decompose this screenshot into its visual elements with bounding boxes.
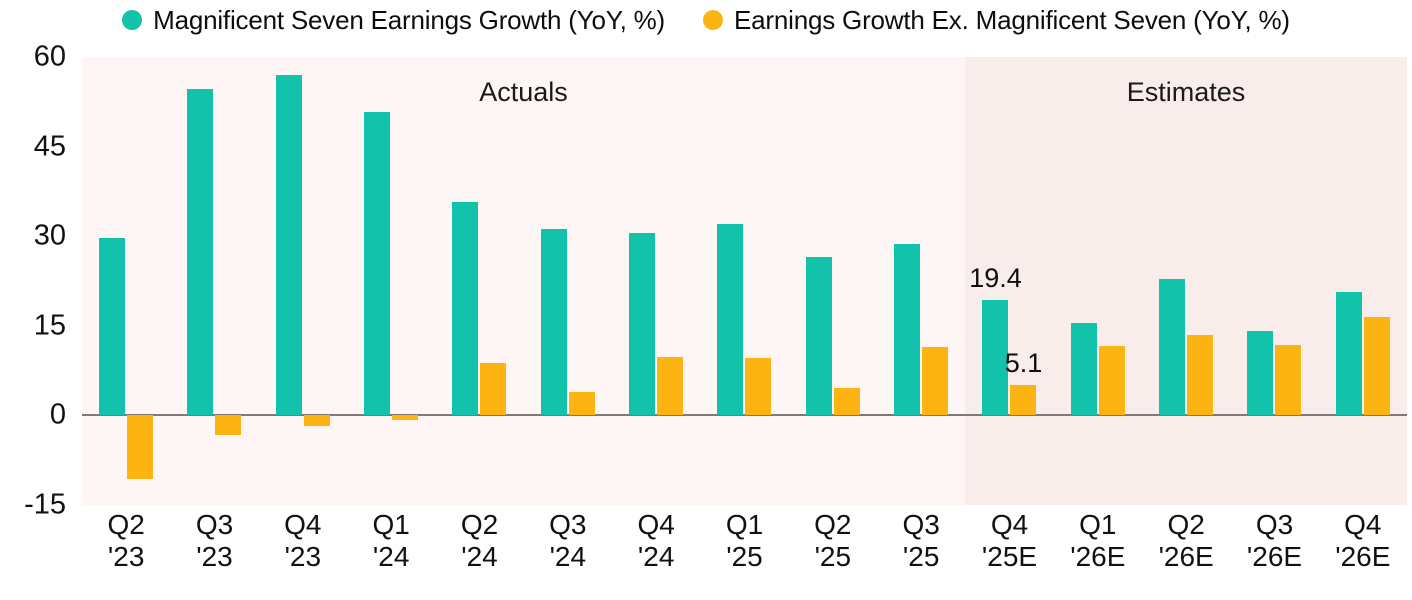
x-axis-tick-label: Q2'25 — [814, 509, 851, 574]
x-axis-tick-label-line: '24 — [372, 541, 409, 573]
x-axis-tick-label: Q3'24 — [549, 509, 586, 574]
bar-mag-seven[interactable] — [452, 202, 478, 415]
bar-mag-seven[interactable] — [717, 224, 743, 415]
x-axis-tick-label-line: Q3 — [902, 509, 939, 541]
x-axis-tick-label-line: Q3 — [196, 509, 233, 541]
x-axis-tick-label-line: '23 — [284, 541, 321, 573]
x-axis-tick-label-line: '25 — [902, 541, 939, 573]
bar-ex-mag-seven[interactable] — [922, 347, 948, 416]
bar-ex-mag-seven[interactable] — [834, 388, 860, 415]
bar-group — [1054, 57, 1142, 505]
legend-label-ex-mag-seven: Earnings Growth Ex. Magnificent Seven (Y… — [734, 5, 1290, 36]
circle-marker-icon — [703, 10, 723, 30]
bar-group — [789, 57, 877, 505]
circle-marker-icon — [122, 10, 142, 30]
x-axis-tick-label-line: '26E — [1247, 541, 1302, 573]
bar-mag-seven[interactable] — [187, 89, 213, 416]
x-axis-tick-label-line: Q4 — [284, 509, 321, 541]
bar-ex-mag-seven[interactable] — [304, 415, 330, 426]
bar-ex-mag-seven[interactable] — [215, 415, 241, 435]
bar-group — [1230, 57, 1318, 505]
x-axis-tick-label-line: Q3 — [1247, 509, 1302, 541]
y-axis-tick-label: 60 — [34, 41, 66, 74]
x-axis-tick-label: Q3'26E — [1247, 509, 1302, 574]
bar-ex-mag-seven[interactable] — [1099, 346, 1125, 415]
bars-layer: 19.45.1 — [82, 57, 1407, 505]
x-axis-tick-label-line: Q4 — [1335, 509, 1390, 541]
bar-group — [435, 57, 523, 505]
y-axis-tick-label: 45 — [34, 130, 66, 163]
x-axis-tick-label: Q4'25E — [982, 509, 1037, 574]
x-axis-tick-label-line: Q1 — [372, 509, 409, 541]
x-axis-tick-label-line: '26E — [1159, 541, 1214, 573]
bar-value-label: 19.4 — [969, 263, 1022, 294]
x-axis-tick-label-line: Q2 — [107, 509, 144, 541]
bar-group — [877, 57, 965, 505]
y-axis: 604530150-15 — [0, 57, 78, 505]
x-axis-tick-label: Q1'25 — [726, 509, 763, 574]
bar-mag-seven[interactable] — [276, 75, 302, 415]
bar-mag-seven[interactable] — [1247, 331, 1273, 416]
bar-group — [347, 57, 435, 505]
bar-mag-seven[interactable] — [1336, 292, 1362, 416]
x-axis-tick-label: Q2'26E — [1159, 509, 1214, 574]
legend-item-mag-seven: Magnificent Seven Earnings Growth (YoY, … — [122, 5, 665, 36]
y-axis-tick-label: 0 — [50, 399, 66, 432]
x-axis-tick-label-line: '24 — [549, 541, 586, 573]
bar-group — [1319, 57, 1407, 505]
x-axis-tick-label-line: Q2 — [1159, 509, 1214, 541]
bar-ex-mag-seven[interactable] — [569, 392, 595, 415]
x-axis-tick-label-line: '24 — [637, 541, 674, 573]
bar-mag-seven[interactable] — [99, 238, 125, 415]
x-axis-tick-label: Q4'24 — [637, 509, 674, 574]
bar-mag-seven[interactable] — [806, 257, 832, 415]
x-axis-tick-label-line: '23 — [196, 541, 233, 573]
x-axis-tick-label-line: Q4 — [982, 509, 1037, 541]
bar-group — [170, 57, 258, 505]
bar-group — [82, 57, 170, 505]
x-axis-tick-label-line: Q4 — [637, 509, 674, 541]
bar-group — [259, 57, 347, 505]
x-axis-tick-label-line: '26E — [1070, 541, 1125, 573]
bar-ex-mag-seven[interactable] — [127, 415, 153, 479]
x-axis-tick-label: Q1'26E — [1070, 509, 1125, 574]
x-axis-tick-label-line: Q1 — [726, 509, 763, 541]
bar-ex-mag-seven[interactable] — [480, 363, 506, 416]
bar-mag-seven[interactable] — [629, 233, 655, 415]
x-axis-tick-label-line: '25E — [982, 541, 1037, 573]
x-axis-tick-label-line: '23 — [107, 541, 144, 573]
bar-ex-mag-seven[interactable] — [1010, 385, 1036, 415]
x-axis: Q2'23Q3'23Q4'23Q1'24Q2'24Q3'24Q4'24Q1'25… — [82, 509, 1407, 597]
x-axis-tick-label: Q3'25 — [902, 509, 939, 574]
legend-label-mag-seven: Magnificent Seven Earnings Growth (YoY, … — [153, 5, 665, 36]
chart-root: Magnificent Seven Earnings Growth (YoY, … — [0, 0, 1412, 600]
x-axis-tick-label-line: Q2 — [814, 509, 851, 541]
bar-mag-seven[interactable] — [1159, 279, 1185, 415]
y-axis-tick-label: -15 — [24, 489, 66, 522]
x-axis-tick-label-line: Q3 — [549, 509, 586, 541]
x-axis-tick-label-line: '24 — [461, 541, 498, 573]
bar-mag-seven[interactable] — [364, 112, 390, 415]
bar-ex-mag-seven[interactable] — [1275, 345, 1301, 415]
bar-group — [700, 57, 788, 505]
y-axis-tick-label: 30 — [34, 220, 66, 253]
bar-mag-seven[interactable] — [894, 244, 920, 415]
chart-legend: Magnificent Seven Earnings Growth (YoY, … — [0, 0, 1412, 40]
x-axis-tick-label-line: Q1 — [1070, 509, 1125, 541]
bar-group — [524, 57, 612, 505]
bar-ex-mag-seven[interactable] — [1187, 335, 1213, 416]
x-axis-tick-label-line: '25 — [814, 541, 851, 573]
x-axis-tick-label-line: '25 — [726, 541, 763, 573]
bar-group — [612, 57, 700, 505]
bar-ex-mag-seven[interactable] — [392, 415, 418, 419]
x-axis-tick-label: Q4'23 — [284, 509, 321, 574]
bar-value-label: 5.1 — [1005, 348, 1043, 379]
x-axis-tick-label: Q2'24 — [461, 509, 498, 574]
bar-ex-mag-seven[interactable] — [1364, 317, 1390, 415]
bar-ex-mag-seven[interactable] — [657, 357, 683, 415]
bar-mag-seven[interactable] — [1071, 323, 1097, 416]
x-axis-tick-label: Q1'24 — [372, 509, 409, 574]
x-axis-tick-label: Q2'23 — [107, 509, 144, 574]
x-axis-tick-label: Q4'26E — [1335, 509, 1390, 574]
y-axis-tick-label: 15 — [34, 309, 66, 342]
x-axis-tick-label-line: '26E — [1335, 541, 1390, 573]
legend-item-ex-mag-seven: Earnings Growth Ex. Magnificent Seven (Y… — [703, 5, 1290, 36]
bar-mag-seven[interactable] — [541, 229, 567, 415]
x-axis-tick-label-line: Q2 — [461, 509, 498, 541]
bar-group — [1142, 57, 1230, 505]
bar-ex-mag-seven[interactable] — [745, 358, 771, 415]
x-axis-tick-label: Q3'23 — [196, 509, 233, 574]
